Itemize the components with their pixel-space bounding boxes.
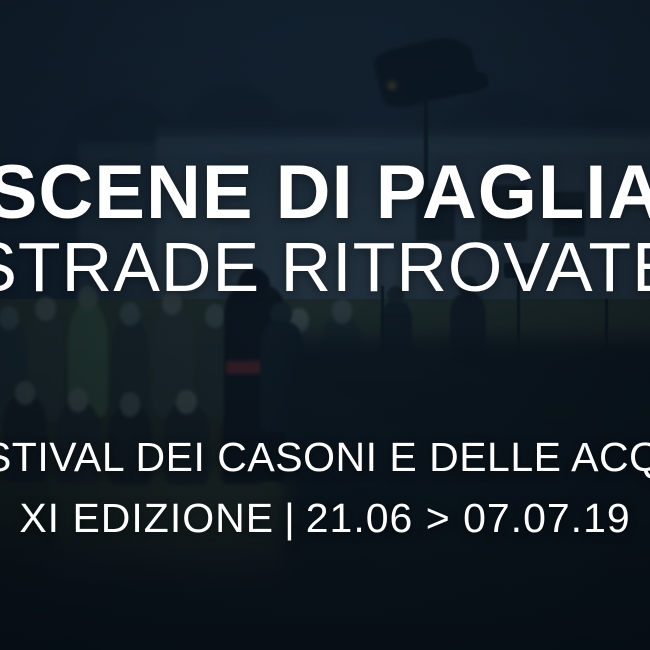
festival-poster: SCENE DI PAGLIA STRADE RITROVATE FESTIVA… [0,0,650,650]
page-title: SCENE DI PAGLIA [0,155,650,231]
festival-name: FESTIVAL DEI CASONI E DELLE ACQUE [0,437,650,478]
page-subtitle: STRADE RITROVATE [0,232,650,302]
edition-and-dates: XI EDIZIONE|21.06 > 07.07.19 [19,498,630,539]
edition-label: XI EDIZIONE [19,495,274,541]
edition-separator: | [274,495,306,541]
poster-text-layer: SCENE DI PAGLIA STRADE RITROVATE FESTIVA… [0,0,650,650]
date-range: 21.06 > 07.07.19 [306,495,631,541]
